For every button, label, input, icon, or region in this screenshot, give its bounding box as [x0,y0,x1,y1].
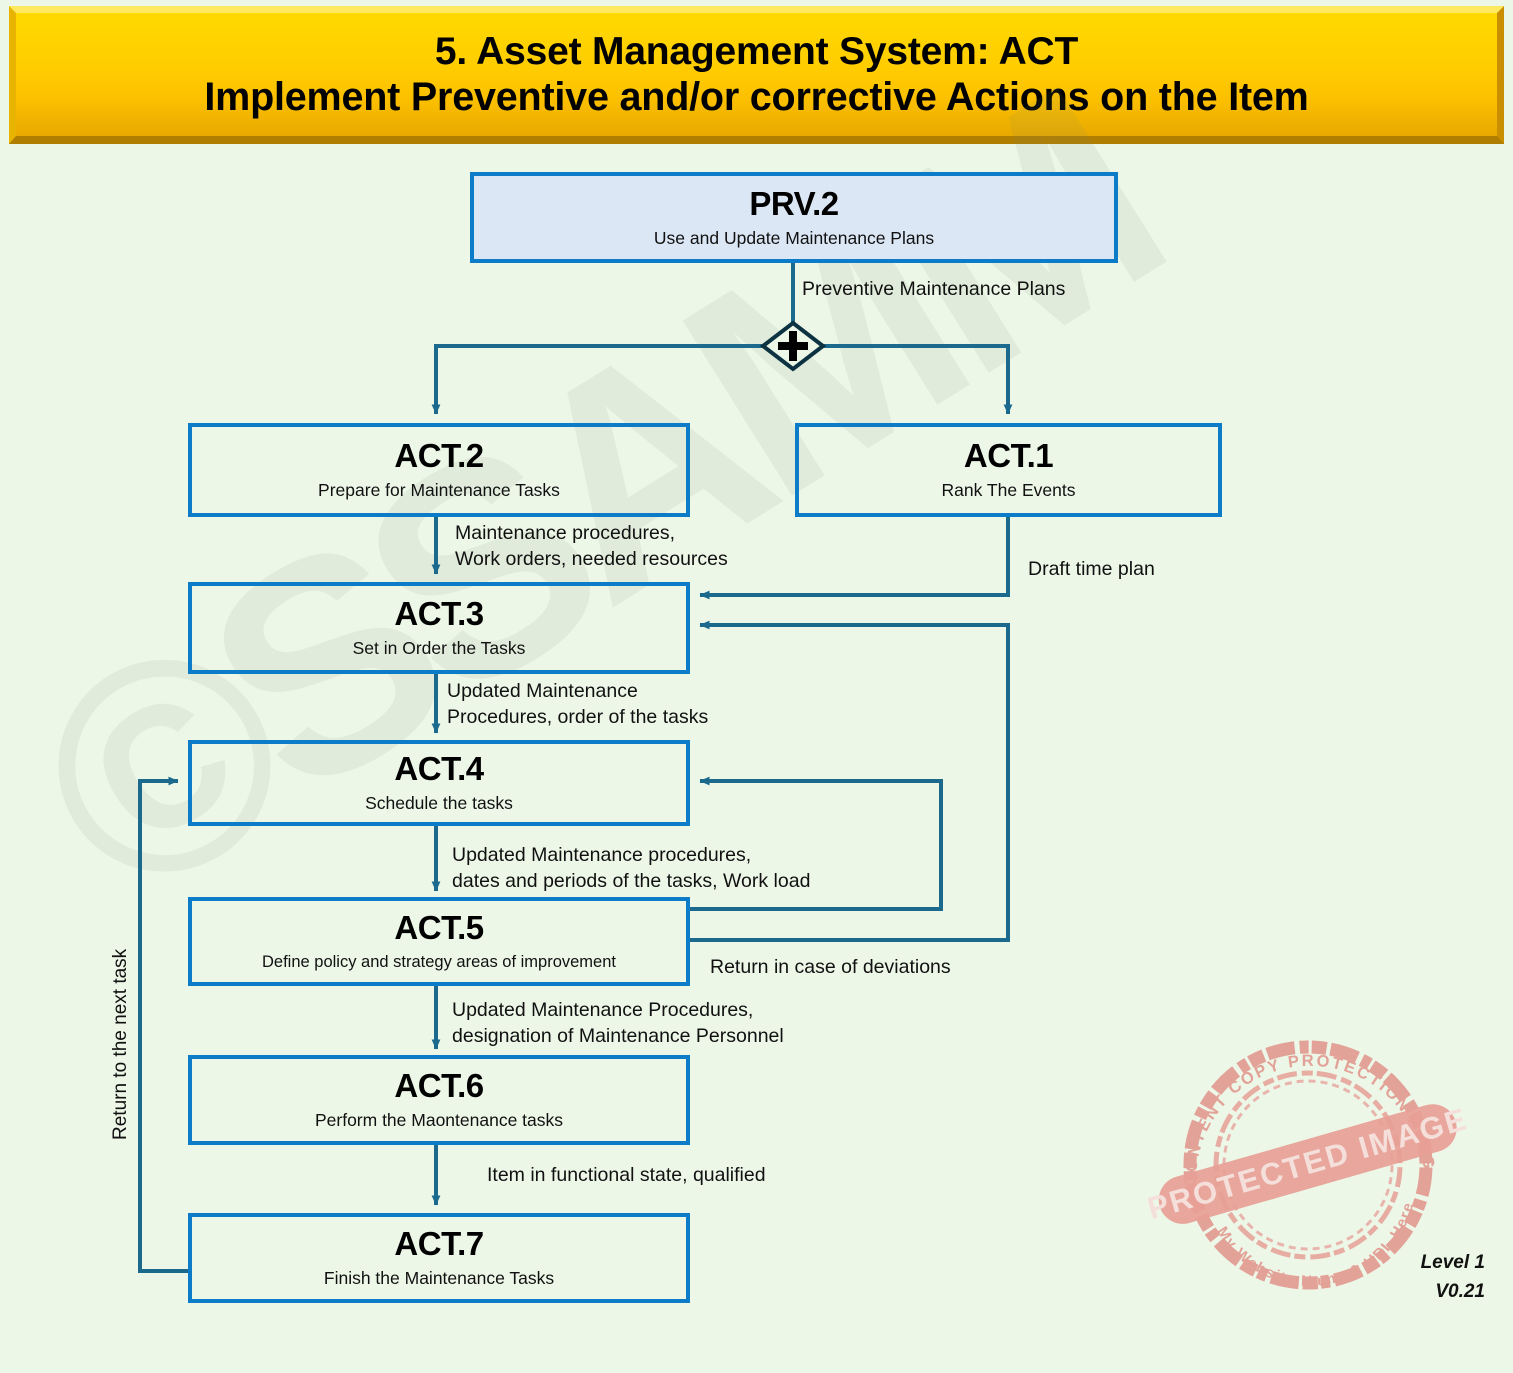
node-act5-desc: Define policy and strategy areas of impr… [262,953,616,971]
footer-version: V0.21 [1421,1278,1485,1307]
diagram-canvas: 5. Asset Management System: ACT Implemen… [0,0,1513,1328]
node-act5-code: ACT.5 [394,911,483,944]
edge-label-act7-return: Return to the next task [108,949,133,1140]
node-act4-code: ACT.4 [394,752,483,785]
footer-level: Level 1 [1421,1249,1485,1278]
edge-label-act1-act3: Draft time plan [1028,557,1155,583]
node-act7-code: ACT.7 [394,1227,483,1260]
edge-label-act6-act7: Item in functional state, qualified [487,1163,766,1189]
edge-label-act4-act5: Updated Maintenance procedures, dates an… [452,843,810,894]
node-act4-desc: Schedule the tasks [365,794,513,813]
edge-act1-act3 [700,517,1008,595]
node-act2[interactable]: ACT.2 Prepare for Maintenance Tasks [188,423,690,517]
node-act3[interactable]: ACT.3 Set in Order the Tasks [188,582,690,674]
node-act3-desc: Set in Order the Tasks [353,639,526,658]
node-act1-desc: Rank The Events [942,481,1076,500]
node-prv2-code: PRV.2 [749,187,838,220]
footer-meta: Level 1 V0.21 [1421,1249,1485,1306]
node-prv2-desc: Use and Update Maintenance Plans [654,229,934,248]
node-act2-code: ACT.2 [394,439,483,472]
edge-label-prv2-gateway: Preventive Maintenance Plans [802,277,1065,303]
node-act4[interactable]: ACT.4 Schedule the tasks [188,740,690,826]
node-act7-desc: Finish the Maintenance Tasks [324,1269,554,1288]
node-act2-desc: Prepare for Maintenance Tasks [318,481,560,500]
edge-gateway-act1 [821,346,1008,414]
edge-label-act5-act6: Updated Maintenance Procedures, designat… [452,998,784,1049]
parallel-gateway-icon [763,323,823,369]
node-act1-code: ACT.1 [964,439,1053,472]
node-act3-code: ACT.3 [394,597,483,630]
edge-label-act5-return: Return in case of deviations [710,955,951,981]
node-prv2[interactable]: PRV.2 Use and Update Maintenance Plans [470,172,1118,263]
edge-label-act2-act3: Maintenance procedures, Work orders, nee… [455,521,728,572]
node-act7[interactable]: ACT.7 Finish the Maintenance Tasks [188,1213,690,1303]
node-act5[interactable]: ACT.5 Define policy and strategy areas o… [188,897,690,986]
node-act6-desc: Perform the Maontenance tasks [315,1111,563,1130]
node-act1[interactable]: ACT.1 Rank The Events [795,423,1222,517]
edge-act7-act4-return [140,781,188,1271]
node-act6-code: ACT.6 [394,1069,483,1102]
node-act6[interactable]: ACT.6 Perform the Maontenance tasks [188,1055,690,1145]
edge-gateway-act2 [436,346,765,414]
edge-label-act3-act4: Updated Maintenance Procedures, order of… [447,679,708,730]
